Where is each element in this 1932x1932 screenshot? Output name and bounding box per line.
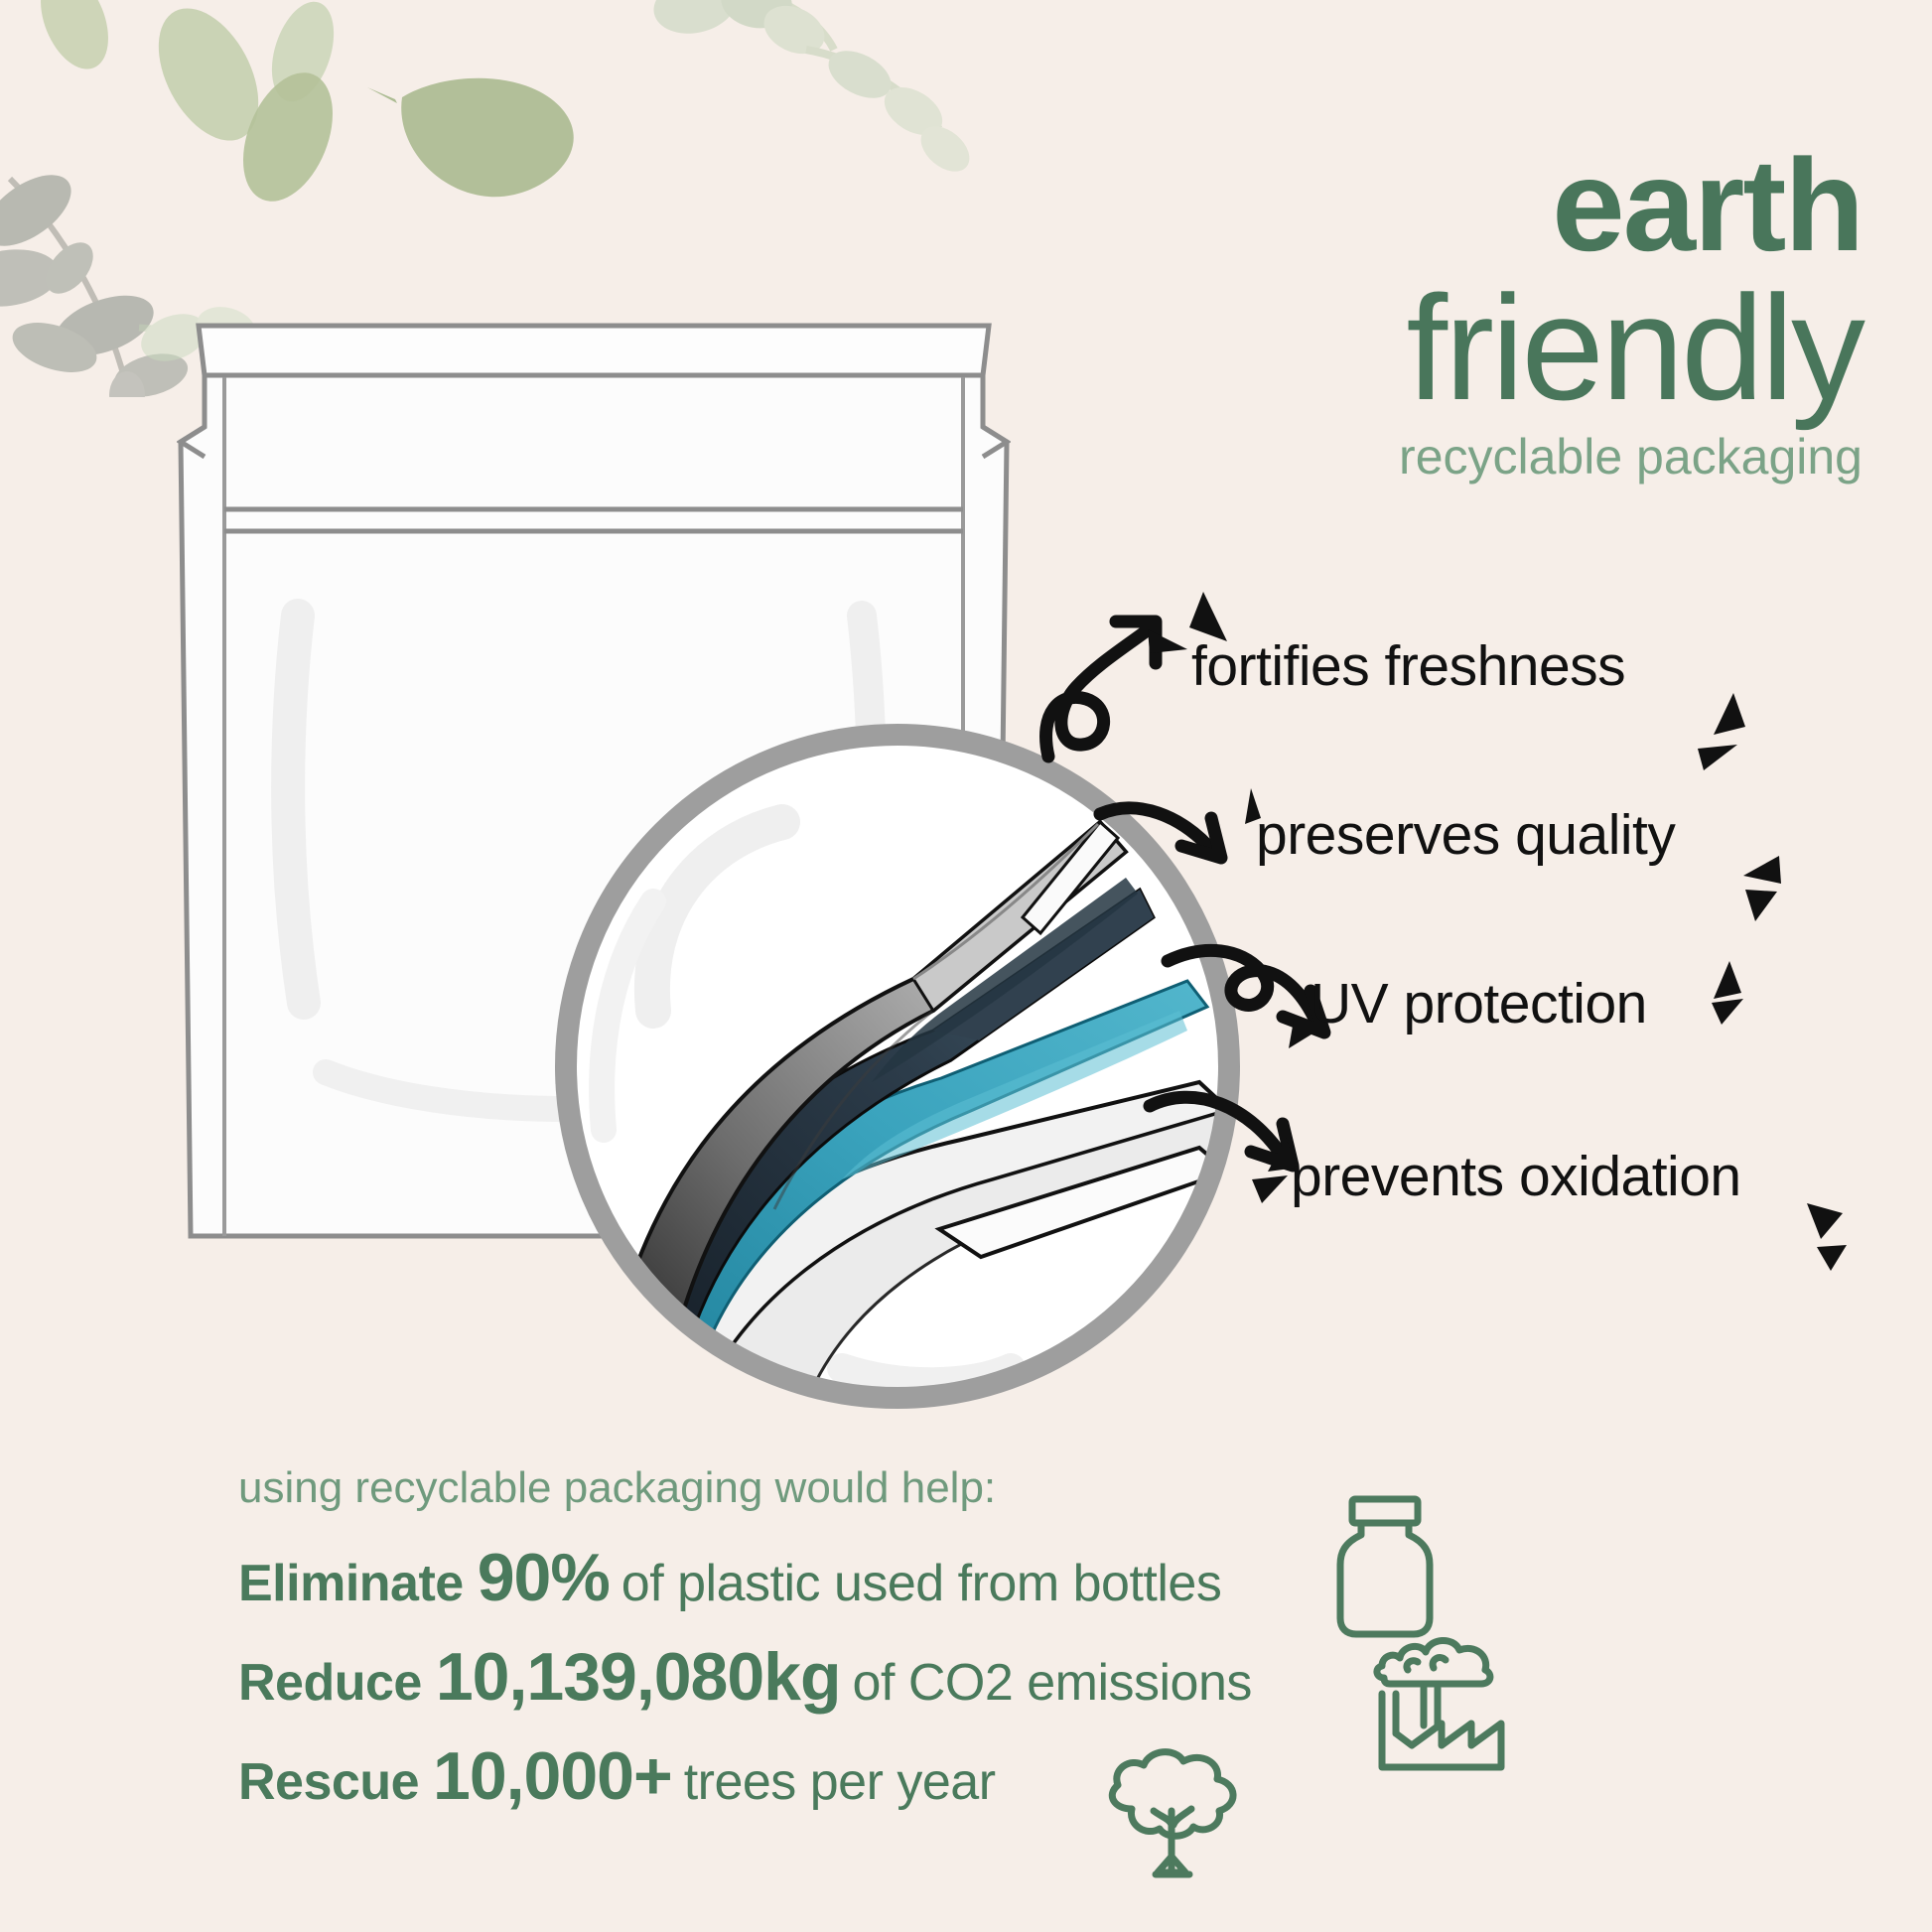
stat-number: 90%	[478, 1539, 610, 1616]
bottle-icon	[1328, 1493, 1446, 1642]
stat-number: 10,000+	[433, 1737, 672, 1815]
stat-tail: of plastic used from bottles	[621, 1554, 1222, 1613]
magnified-cross-section-detail	[544, 713, 1251, 1420]
stats-heading: using recyclable packaging would help:	[238, 1463, 1410, 1513]
feature-label-uv-protection: UV protection	[1311, 971, 1647, 1036]
stat-lead: Rescue	[238, 1752, 419, 1812]
sparkle-icon	[1787, 1191, 1866, 1281]
sparkle-icon	[1688, 687, 1767, 776]
stat-lead: Eliminate	[238, 1554, 464, 1613]
stat-lead: Reduce	[238, 1653, 422, 1713]
headline-line-2: friendly	[1048, 273, 1863, 422]
feature-label-preserves-quality: preserves quality	[1256, 802, 1675, 868]
stat-row: Reduce 10,139,080kg of CO2 emissions	[238, 1638, 1410, 1716]
stat-tail: of CO2 emissions	[853, 1653, 1252, 1713]
headline-line-1: earth	[1048, 139, 1863, 273]
feature-label-fortifies-freshness: fortifies freshness	[1191, 633, 1625, 699]
factory-icon	[1368, 1626, 1507, 1775]
sparkle-icon	[1678, 955, 1757, 1044]
tree-icon	[1092, 1745, 1251, 1884]
feature-label-prevents-oxidation: prevents oxidation	[1291, 1144, 1741, 1209]
stat-number: 10,139,080kg	[436, 1638, 841, 1716]
stat-row: Eliminate 90% of plastic used from bottl…	[238, 1539, 1410, 1616]
headline-subtitle: recyclable packaging	[1048, 426, 1863, 488]
sparkle-icon	[1729, 842, 1809, 931]
infographic-canvas: earth friendly recyclable packaging fort…	[0, 0, 1932, 1932]
headline-block: earth friendly recyclable packaging	[1048, 139, 1863, 487]
stat-tail: trees per year	[684, 1752, 996, 1812]
